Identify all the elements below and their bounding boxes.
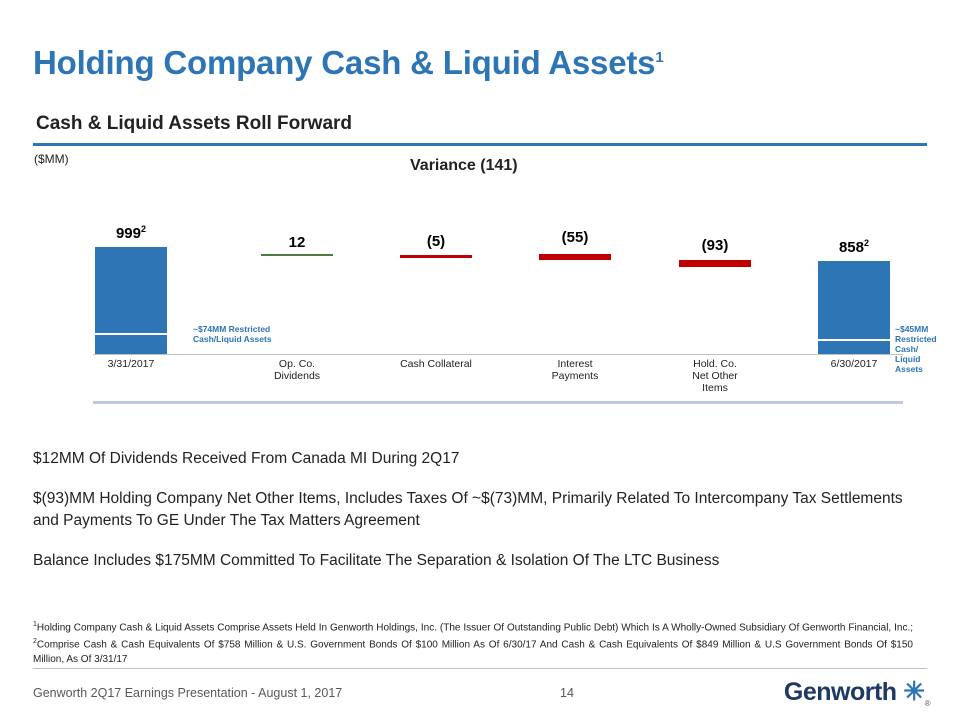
genworth-logo: Genworth ✳® bbox=[784, 676, 930, 708]
connector-hold-co-net-other bbox=[679, 260, 751, 267]
page-title: Holding Company Cash & Liquid Assets1 bbox=[33, 44, 663, 82]
title-divider bbox=[33, 143, 927, 146]
category-label-interest-payments: InterestPayments bbox=[533, 358, 617, 382]
section-subtitle: Cash & Liquid Assets Roll Forward bbox=[36, 113, 352, 135]
bar-closing-restricted-divider bbox=[818, 339, 890, 341]
footnote-text-1: Holding Company Cash & Liquid Assets Com… bbox=[37, 622, 913, 633]
bullet-item: $(93)MM Holding Company Net Other Items,… bbox=[33, 488, 923, 532]
page-title-footnote-marker: 1 bbox=[655, 49, 663, 66]
footnote-text-2: Comprise Cash & Cash Equivalents Of $758… bbox=[33, 640, 913, 665]
category-label-cash-collateral: Cash Collateral bbox=[383, 358, 489, 370]
callout-opening-restricted: ~$74MM Restricted Cash/Liquid Assets bbox=[193, 324, 272, 344]
bullet-item: $12MM Of Dividends Received From Canada … bbox=[33, 448, 923, 470]
variance-label: Variance (141) bbox=[410, 157, 518, 175]
category-label-hold-co-net-other: Hold. Co.Net OtherItems bbox=[673, 358, 757, 394]
bar-label-cash-collateral: (5) bbox=[394, 232, 478, 250]
genworth-starburst-icon: ✳ bbox=[897, 676, 925, 706]
bar-label-op-co-dividends: 12 bbox=[255, 233, 339, 251]
genworth-wordmark: Genworth bbox=[784, 678, 897, 706]
bar-label-opening-balance: 9992 bbox=[89, 224, 173, 242]
footer-presentation-label: Genworth 2Q17 Earnings Presentation - Au… bbox=[33, 686, 342, 700]
bar-opening-restricted-divider bbox=[95, 333, 167, 335]
waterfall-chart: 9992 12 (5) (55) (93) 8582 ~$74MM Restri… bbox=[33, 200, 927, 410]
category-label-opening: 3/31/2017 bbox=[89, 358, 173, 370]
baseline-band bbox=[93, 401, 903, 404]
callout-closing-restricted: ~$45MM Restricted Cash/ Liquid Assets bbox=[895, 324, 937, 374]
category-label-op-co-dividends: Op. Co.Dividends bbox=[255, 358, 339, 382]
page-title-text: Holding Company Cash & Liquid Assets bbox=[33, 44, 655, 81]
category-axis-line bbox=[93, 354, 903, 355]
connector-cash-collateral bbox=[400, 255, 472, 258]
units-label: ($MM) bbox=[34, 152, 69, 166]
connector-interest-payments bbox=[539, 254, 611, 260]
registered-trademark-icon: ® bbox=[925, 699, 930, 708]
footnotes: 1Holding Company Cash & Liquid Assets Co… bbox=[33, 618, 913, 667]
bar-label-hold-co-net-other: (93) bbox=[673, 236, 757, 254]
connector-op-co-dividends bbox=[261, 254, 333, 256]
footer-divider bbox=[33, 668, 927, 669]
bullet-list: $12MM Of Dividends Received From Canada … bbox=[33, 448, 923, 590]
category-label-closing: 6/30/2017 bbox=[812, 358, 896, 370]
bar-opening-balance bbox=[95, 247, 167, 354]
bar-label-closing-balance: 8582 bbox=[812, 238, 896, 256]
bar-label-interest-payments: (55) bbox=[533, 228, 617, 246]
bullet-item: Balance Includes $175MM Committed To Fac… bbox=[33, 550, 923, 572]
page-number: 14 bbox=[560, 686, 574, 700]
slide: Holding Company Cash & Liquid Assets1 Ca… bbox=[0, 0, 960, 720]
